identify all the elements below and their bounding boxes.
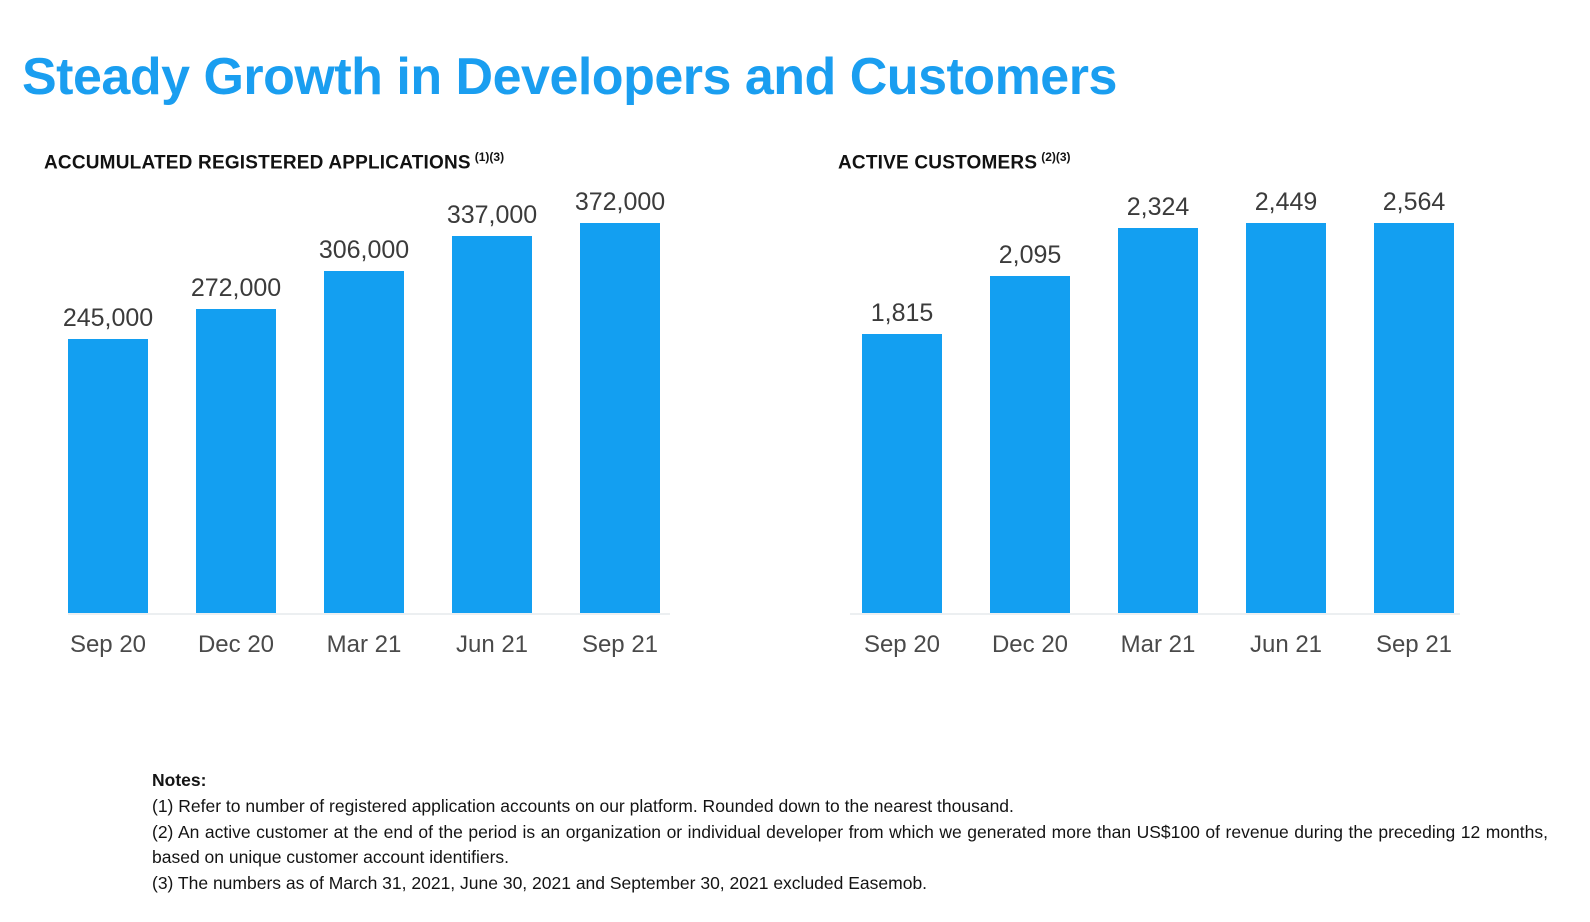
notes-heading: Notes:	[152, 768, 1552, 793]
chart-panel-active-customers: ACTIVE CUSTOMERS(2)(3) 1,815 2,095 2,324	[838, 150, 1478, 665]
x-axis-label: Sep 20	[838, 633, 966, 657]
x-axis-label: Dec 20	[966, 633, 1094, 657]
bar-value-label: 245,000	[63, 306, 153, 331]
chart-panel-accumulated-registered-applications: ACCUMULATED REGISTERED APPLICATIONS(1)(3…	[44, 150, 684, 665]
x-axis-label: Sep 21	[1350, 633, 1478, 657]
x-axis-label: Jun 21	[1222, 633, 1350, 657]
bar-slot: 2,564	[1350, 190, 1478, 613]
bar-slot: 1,815	[838, 190, 966, 613]
x-axis-line	[68, 613, 670, 615]
chart-title-footnote-markers: (2)(3)	[1041, 150, 1070, 164]
bar-value-label: 272,000	[191, 276, 281, 301]
bar[interactable]	[580, 223, 660, 613]
x-axis-label: Jun 21	[428, 633, 556, 657]
bar-slot: 272,000	[172, 190, 300, 613]
chart-title-footnote-markers: (1)(3)	[475, 150, 504, 164]
bar-value-label: 2,324	[1127, 195, 1190, 220]
bar-slot: 2,095	[966, 190, 1094, 613]
bar[interactable]	[1246, 223, 1326, 613]
bar-value-label: 2,449	[1255, 190, 1318, 215]
x-axis-label: Sep 20	[44, 633, 172, 657]
bar-value-label: 337,000	[447, 203, 537, 228]
bar[interactable]	[1118, 228, 1198, 613]
note-item-3: (3) The numbers as of March 31, 2021, Ju…	[152, 871, 1552, 896]
x-axis-label: Sep 21	[556, 633, 684, 657]
bar-slot: 2,324	[1094, 190, 1222, 613]
x-axis-labels-right: Sep 20 Dec 20 Mar 21 Jun 21 Sep 21	[838, 633, 1478, 657]
bar[interactable]	[1374, 223, 1454, 613]
bars-group-left: 245,000 272,000 306,000 337,000 372,000	[44, 190, 684, 613]
bar-slot: 2,449	[1222, 190, 1350, 613]
x-axis-label: Mar 21	[1094, 633, 1222, 657]
bar[interactable]	[68, 339, 148, 613]
chart-title-active-customers: ACTIVE CUSTOMERS(2)(3)	[838, 150, 1478, 176]
bar-value-label: 2,564	[1383, 190, 1446, 215]
bar-value-label: 2,095	[999, 243, 1062, 268]
x-axis-label: Dec 20	[172, 633, 300, 657]
bar[interactable]	[862, 334, 942, 613]
bar-slot: 372,000	[556, 190, 684, 613]
bar[interactable]	[196, 309, 276, 613]
plot-area-right: 1,815 2,095 2,324 2,449 2,564	[838, 190, 1478, 665]
bar-slot: 306,000	[300, 190, 428, 613]
note-item-2: (2) An active customer at the end of the…	[152, 820, 1548, 871]
bar[interactable]	[452, 236, 532, 613]
chart-title-text: ACCUMULATED REGISTERED APPLICATIONS	[44, 152, 471, 173]
bar[interactable]	[990, 276, 1070, 613]
bar-value-label: 372,000	[575, 190, 665, 215]
x-axis-line	[850, 613, 1460, 615]
notes-section: Notes: (1) Refer to number of registered…	[152, 768, 1552, 896]
note-item-1: (1) Refer to number of registered applic…	[152, 794, 1552, 819]
chart-title-accumulated-registered-applications: ACCUMULATED REGISTERED APPLICATIONS(1)(3…	[44, 150, 684, 176]
bar-slot: 245,000	[44, 190, 172, 613]
bars-group-right: 1,815 2,095 2,324 2,449 2,564	[838, 190, 1478, 613]
bar-value-label: 1,815	[871, 301, 934, 326]
chart-title-text: ACTIVE CUSTOMERS	[838, 152, 1037, 173]
plot-area-left: 245,000 272,000 306,000 337,000 372,000	[44, 190, 684, 665]
bar-value-label: 306,000	[319, 238, 409, 263]
charts-container: ACCUMULATED REGISTERED APPLICATIONS(1)(3…	[0, 150, 1590, 730]
x-axis-label: Mar 21	[300, 633, 428, 657]
bar-slot: 337,000	[428, 190, 556, 613]
page-title: Steady Growth in Developers and Customer…	[22, 49, 1117, 106]
bar[interactable]	[324, 271, 404, 613]
x-axis-labels-left: Sep 20 Dec 20 Mar 21 Jun 21 Sep 21	[44, 633, 684, 657]
